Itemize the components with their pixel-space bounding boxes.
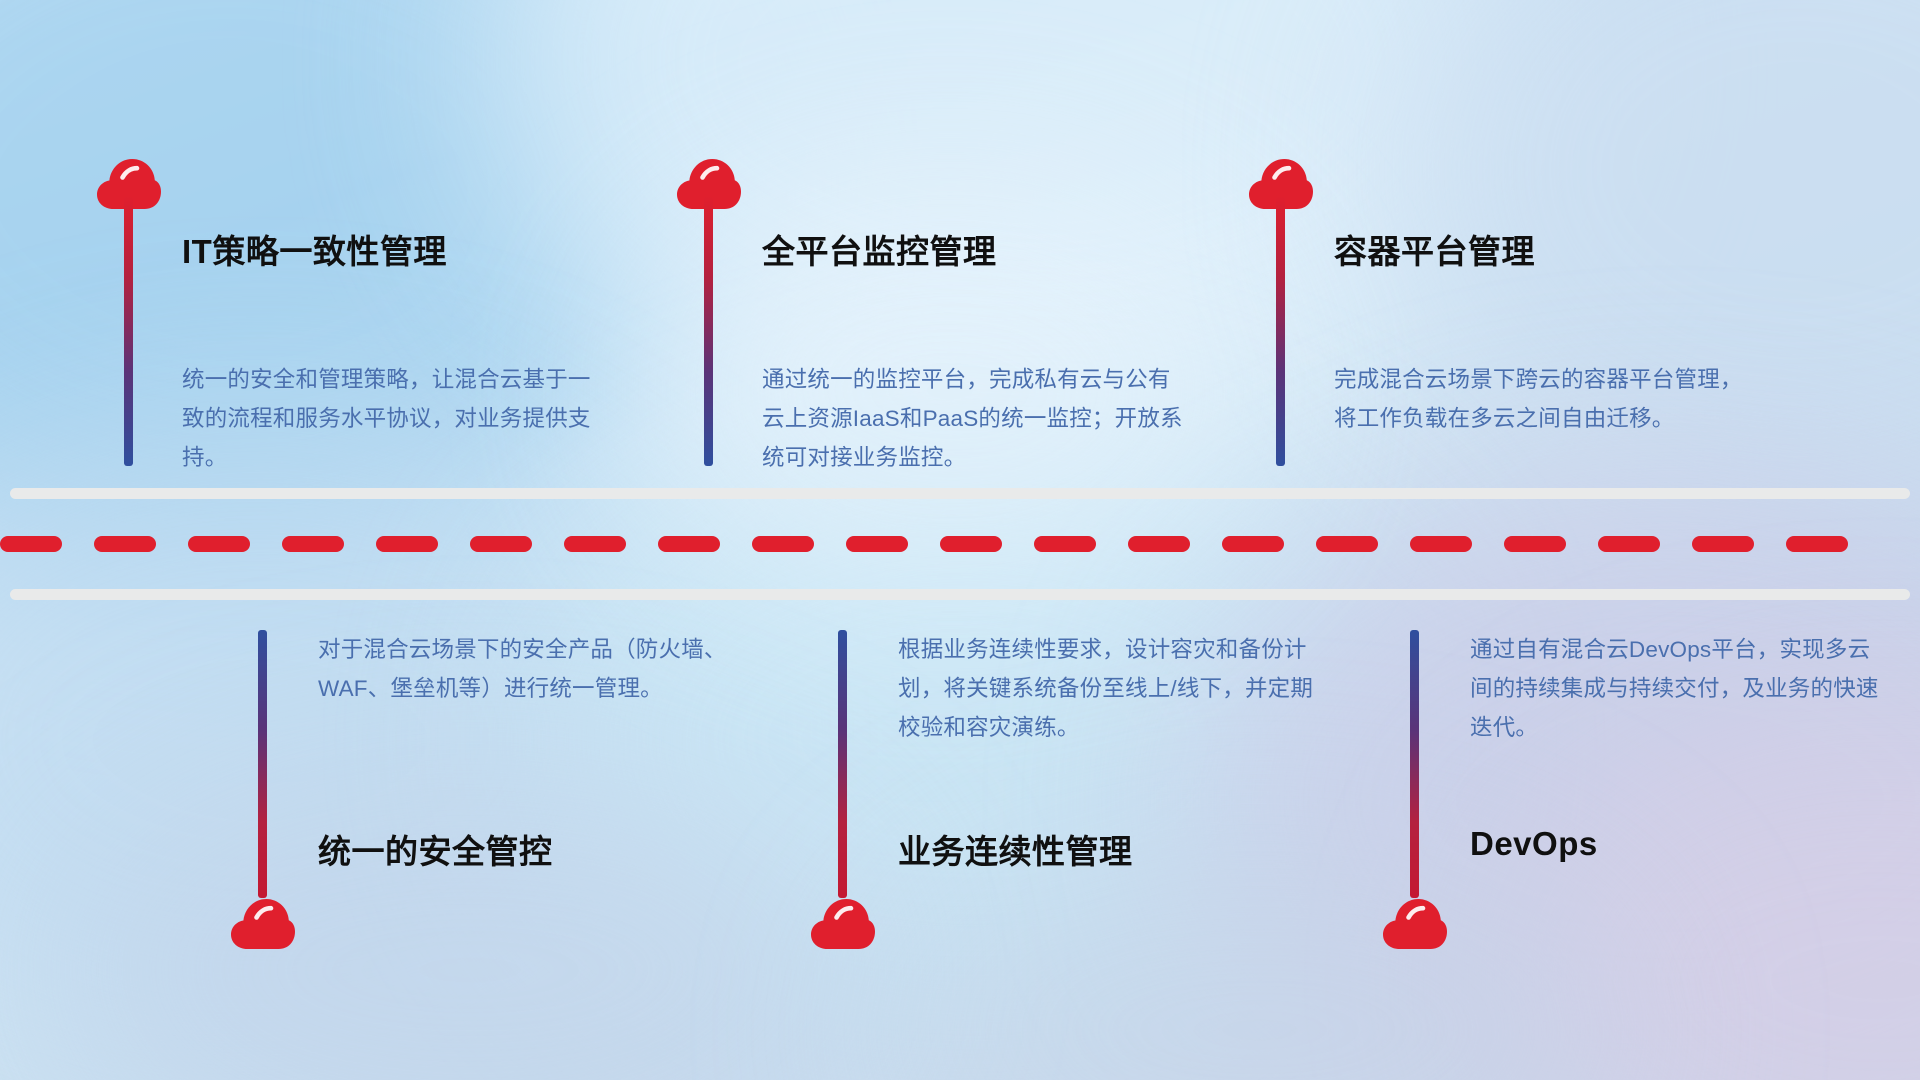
road-divider (0, 488, 1920, 600)
connector-stem (124, 196, 133, 466)
connector-stem (1276, 196, 1285, 466)
road-line-bottom (10, 589, 1910, 600)
feature-body: 统一的安全和管理策略，让混合云基于一致的流程和服务水平协议，对业务提供支持。 (182, 360, 602, 477)
feature-title: DevOps (1470, 825, 1598, 863)
road-dash (564, 536, 626, 552)
cloud-icon (230, 898, 296, 950)
feature-title: IT策略一致性管理 (182, 225, 447, 273)
road-dash (376, 536, 438, 552)
road-line-top (10, 488, 1910, 499)
feature-title: 统一的安全管控 (318, 825, 553, 873)
road-dash (0, 536, 62, 552)
road-dash (1598, 536, 1660, 552)
road-dash-row (0, 536, 1920, 552)
road-dash (846, 536, 908, 552)
feature-title: 全平台监控管理 (762, 225, 997, 273)
road-dash (1128, 536, 1190, 552)
road-dash (1504, 536, 1566, 552)
road-dash (1316, 536, 1378, 552)
connector-stem (258, 630, 267, 898)
road-dash (752, 536, 814, 552)
cloud-icon (1382, 898, 1448, 950)
road-dash (1034, 536, 1096, 552)
connector-stem (1410, 630, 1419, 898)
feature-title: 容器平台管理 (1334, 225, 1535, 273)
road-dash (470, 536, 532, 552)
feature-body: 通过统一的监控平台，完成私有云与公有云上资源IaaS和PaaS的统一监控；开放系… (762, 360, 1192, 477)
connector-stem (704, 196, 713, 466)
cloud-icon (810, 898, 876, 950)
road-dash (658, 536, 720, 552)
feature-title: 业务连续性管理 (898, 825, 1133, 873)
slide-canvas: IT策略一致性管理 统一的安全和管理策略，让混合云基于一致的流程和服务水平协议，… (0, 0, 1920, 1080)
road-dash (1786, 536, 1848, 552)
road-dash (1222, 536, 1284, 552)
feature-body: 通过自有混合云DevOps平台，实现多云间的持续集成与持续交付，及业务的快速迭代… (1470, 630, 1890, 747)
road-dash (188, 536, 250, 552)
feature-body: 对于混合云场景下的安全产品（防火墙、WAF、堡垒机等）进行统一管理。 (318, 630, 743, 708)
feature-body: 完成混合云场景下跨云的容器平台管理，将工作负载在多云之间自由迁移。 (1334, 360, 1759, 438)
road-dash (940, 536, 1002, 552)
feature-body: 根据业务连续性要求，设计容灾和备份计划，将关键系统备份至线上/线下，并定期校验和… (898, 630, 1328, 747)
connector-stem (838, 630, 847, 898)
road-dash (1410, 536, 1472, 552)
road-dash (1692, 536, 1754, 552)
road-dash (94, 536, 156, 552)
road-dash (282, 536, 344, 552)
